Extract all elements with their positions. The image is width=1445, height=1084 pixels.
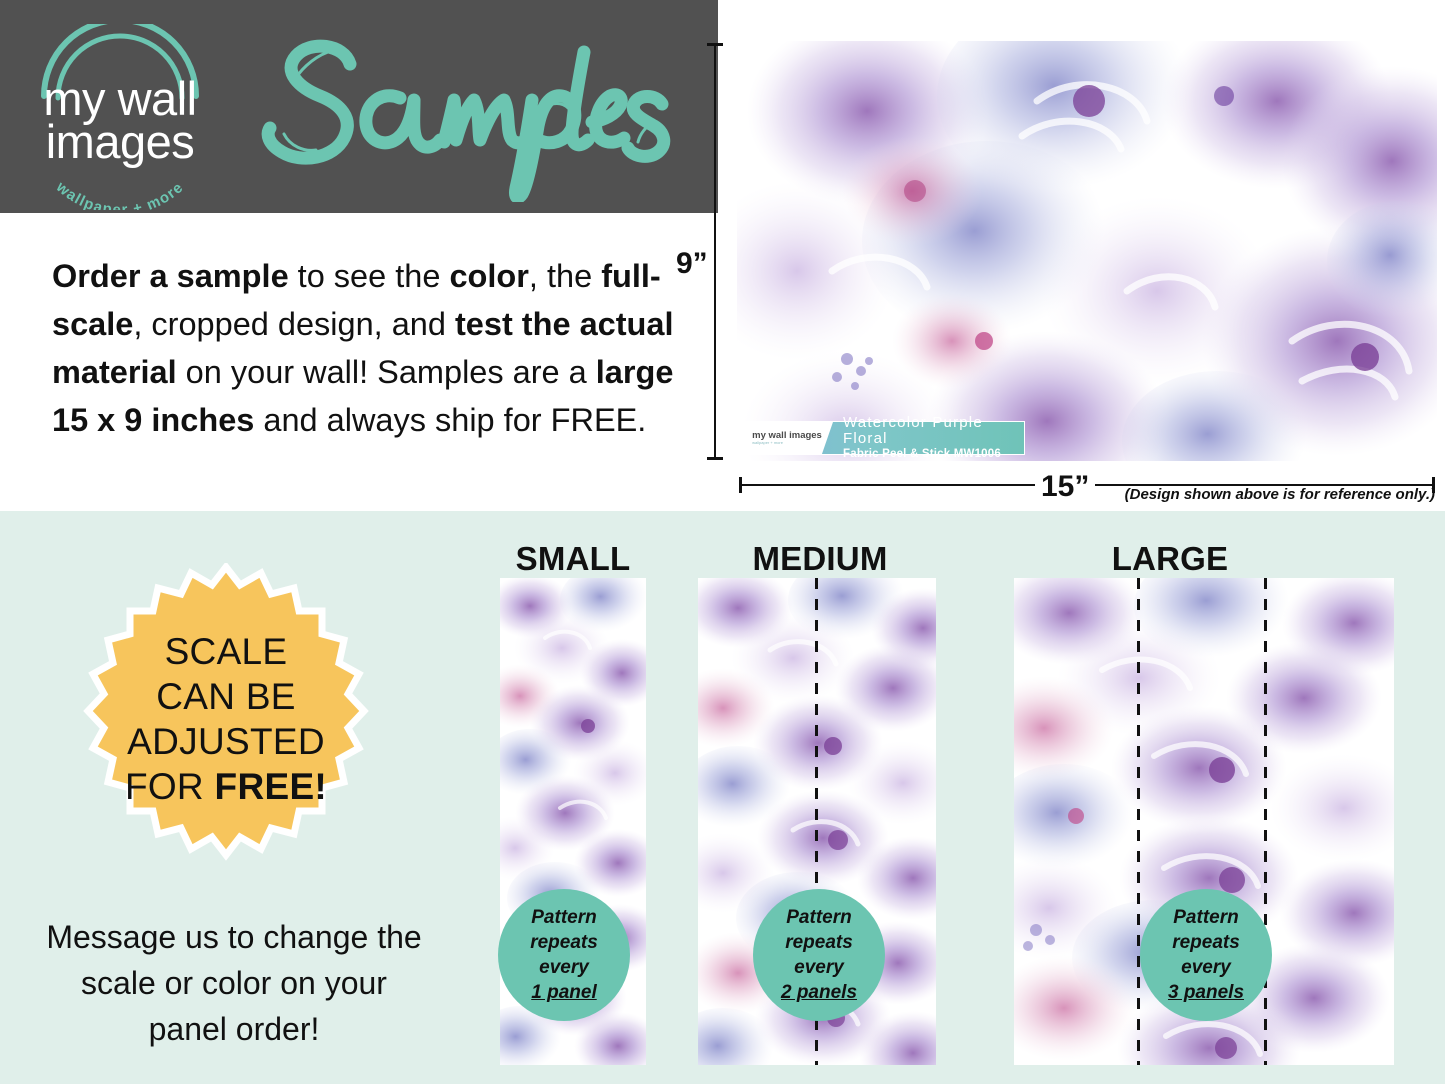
message-text: Message us to change the scale or color … bbox=[38, 914, 430, 1052]
intro-segment-2: color bbox=[449, 258, 528, 294]
repeat-small-line2: repeats bbox=[530, 930, 598, 955]
sample-preview-image bbox=[737, 41, 1437, 461]
badge-line-3: ADJUSTED bbox=[127, 719, 325, 764]
intro-paragraph: Order a sample to see the color, the ful… bbox=[52, 252, 677, 444]
badge-line-2: CAN BE bbox=[156, 674, 296, 719]
height-dimension-line bbox=[714, 43, 716, 460]
badge-line-1: SCALE bbox=[165, 629, 288, 674]
brand-logo: my wall images wallpaper + more bbox=[22, 24, 218, 200]
header-bar: my wall images wallpaper + more bbox=[0, 0, 718, 213]
scale-badge-text: SCALE CAN BE ADJUSTED FOR FREE! bbox=[70, 563, 382, 875]
repeat-medium-line4: 2 panels bbox=[781, 980, 857, 1005]
samples-script-title bbox=[232, 22, 702, 202]
caption-logo: my wall images wallpaper + more bbox=[741, 422, 833, 454]
svg-text:wallpaper + more: wallpaper + more bbox=[52, 178, 187, 210]
logo-line-2: images bbox=[22, 119, 218, 165]
repeat-medium-line2: repeats bbox=[781, 930, 857, 955]
column-title-medium: MEDIUM bbox=[690, 540, 950, 578]
height-dimension-cap-top bbox=[707, 43, 723, 46]
height-dimension-cap-bottom bbox=[707, 457, 723, 460]
poster-root: my wall images wallpaper + more bbox=[0, 0, 1445, 1084]
logo-tagline: wallpaper + more bbox=[22, 162, 218, 210]
repeat-large-line2: repeats bbox=[1168, 930, 1244, 955]
reference-note: (Design shown above is for reference onl… bbox=[1020, 486, 1435, 503]
repeat-note-large: Pattern repeats every 3 panels bbox=[1140, 889, 1272, 1021]
caption-text-block: Watercolor Purple Floral Fabric Peel & S… bbox=[833, 422, 1024, 454]
scale-badge: SCALE CAN BE ADJUSTED FOR FREE! bbox=[70, 563, 382, 875]
intro-segment-9: and always ship for FREE. bbox=[254, 402, 646, 438]
column-title-large: LARGE bbox=[1010, 540, 1330, 578]
badge-line-4: FOR FREE! bbox=[125, 764, 327, 809]
width-dimension-cap-left bbox=[739, 477, 742, 493]
repeat-small-line4: 1 panel bbox=[530, 980, 598, 1005]
caption-title: Watercolor Purple Floral bbox=[843, 415, 1024, 447]
sample-image-caption: my wall images wallpaper + more Watercol… bbox=[740, 421, 1025, 455]
panel-divider-large-2 bbox=[1264, 578, 1267, 1065]
height-dimension-label: 9” bbox=[672, 245, 712, 283]
intro-segment-0: Order a sample bbox=[52, 258, 289, 294]
caption-subtitle: Fabric Peel & Stick MW1006 bbox=[843, 447, 1024, 461]
intro-segment-3: , the bbox=[529, 258, 601, 294]
badge-line-4a: FOR bbox=[125, 766, 215, 807]
panel-divider-large-1 bbox=[1137, 578, 1140, 1065]
repeat-large-line4: 3 panels bbox=[1168, 980, 1244, 1005]
repeat-note-small: Pattern repeats every 1 panel bbox=[498, 889, 630, 1021]
badge-line-4b: FREE! bbox=[215, 766, 328, 807]
repeat-large-line3: every bbox=[1168, 955, 1244, 980]
repeat-medium-line3: every bbox=[781, 955, 857, 980]
repeat-large-line1: Pattern bbox=[1168, 905, 1244, 930]
watercolor-floral-art bbox=[737, 41, 1437, 461]
intro-segment-5: , cropped design, and bbox=[133, 306, 455, 342]
intro-segment-7: on your wall! Samples are a bbox=[177, 354, 596, 390]
repeat-small-line3: every bbox=[530, 955, 598, 980]
repeat-small-line1: Pattern bbox=[530, 905, 598, 930]
caption-logo-subtext: wallpaper + more bbox=[752, 441, 822, 445]
intro-segment-1: to see the bbox=[289, 258, 450, 294]
repeat-note-medium: Pattern repeats every 2 panels bbox=[753, 889, 885, 1021]
column-title-small: SMALL bbox=[443, 540, 703, 578]
repeat-medium-line1: Pattern bbox=[781, 905, 857, 930]
